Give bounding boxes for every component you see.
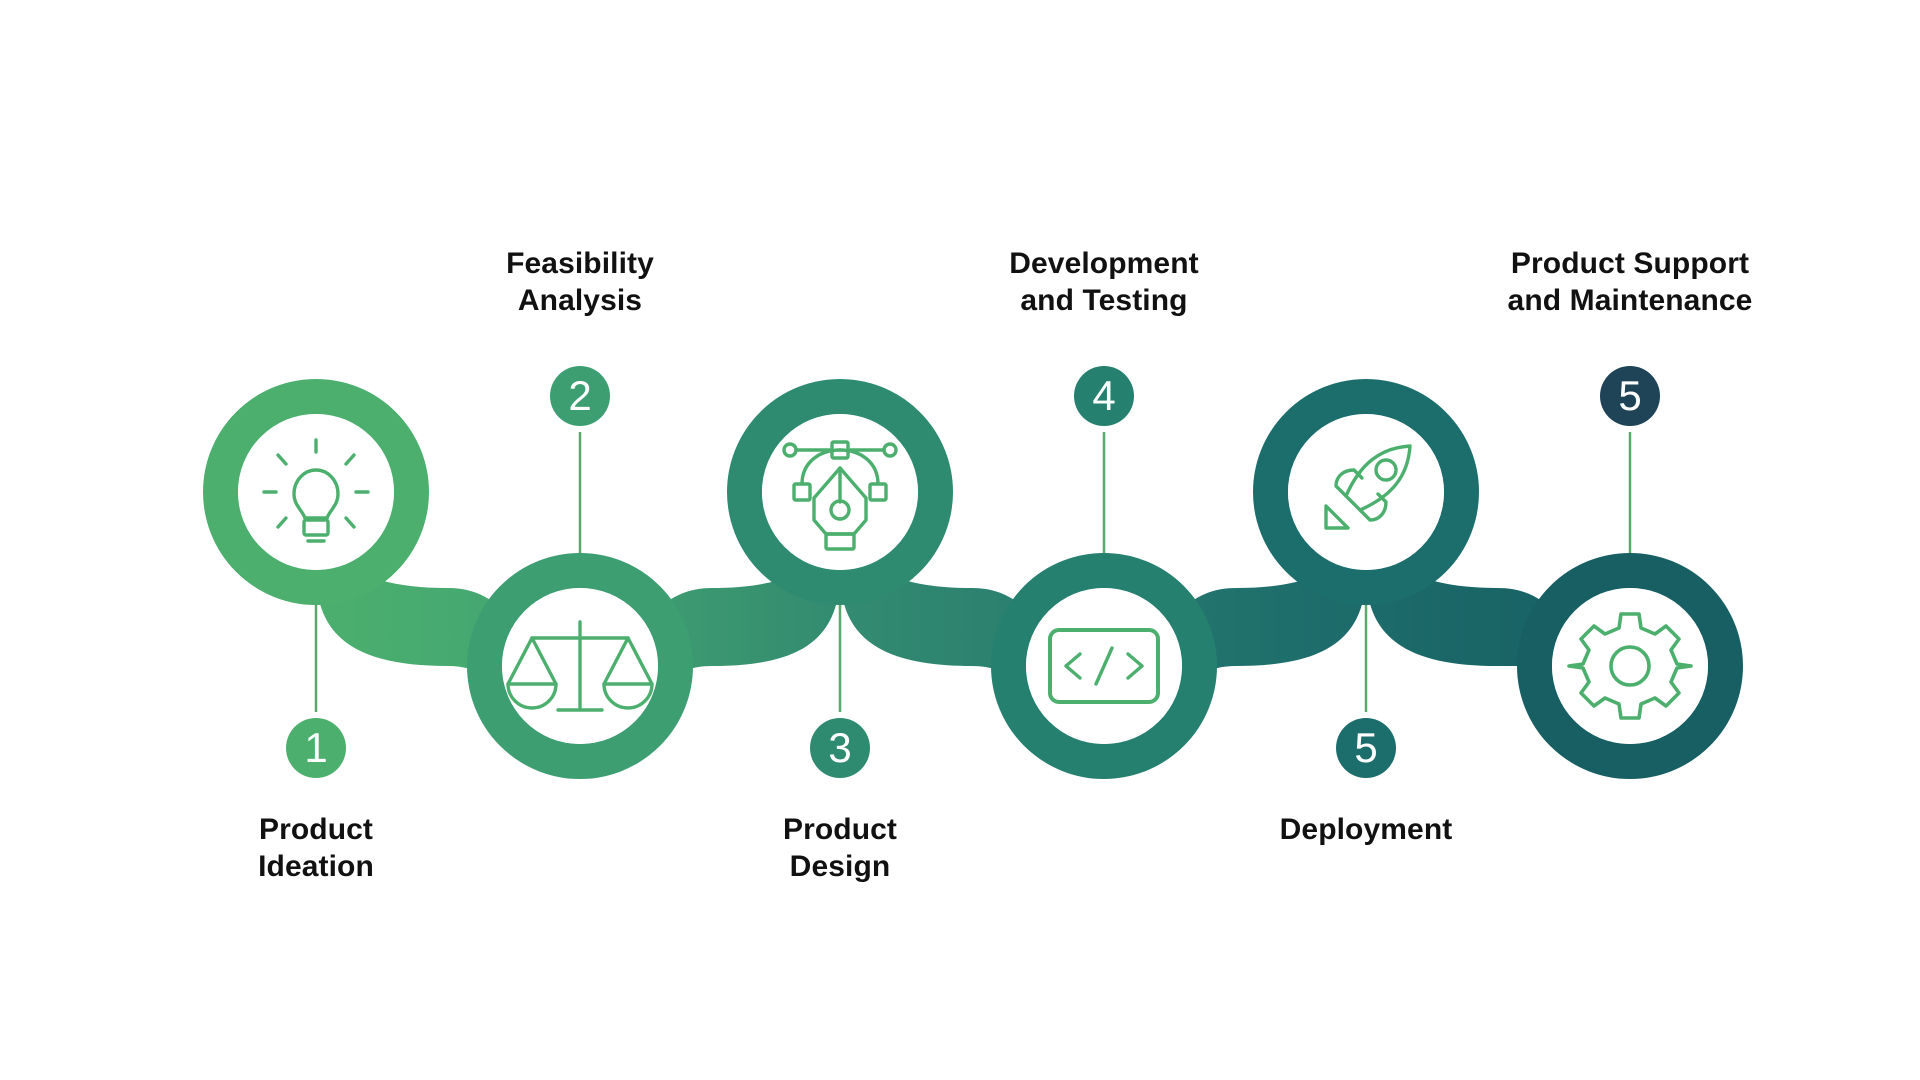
badge-circle-2[interactable]: [550, 366, 610, 426]
step-label-feasibility-analysis: Feasibility Analysis: [506, 246, 654, 319]
icon-discs: [238, 414, 1708, 744]
step-label-product-ideation: Product Ideation: [258, 812, 374, 885]
badge-circle-6[interactable]: [1600, 366, 1660, 426]
step-label-product-design: Product Design: [783, 812, 897, 885]
icon-disc-5: [1288, 414, 1444, 570]
step-label-deployment: Deployment: [1280, 812, 1453, 849]
step-label-development-and-testing: Development and Testing: [1009, 246, 1198, 319]
ribbon-and-rings: [221, 397, 1725, 761]
badge-circle-1[interactable]: [286, 718, 346, 778]
icon-disc-1: [238, 414, 394, 570]
process-flow-graphic: [0, 0, 1920, 1080]
step-label-product-support-and-maintenance: Product Support and Maintenance: [1508, 246, 1753, 319]
diagram-canvas: 1 2 3 4 5 5 Product Ideation Feasibility…: [0, 0, 1920, 1080]
badge-circle-3[interactable]: [810, 718, 870, 778]
badge-circle-4[interactable]: [1074, 366, 1134, 426]
badge-circle-5[interactable]: [1336, 718, 1396, 778]
